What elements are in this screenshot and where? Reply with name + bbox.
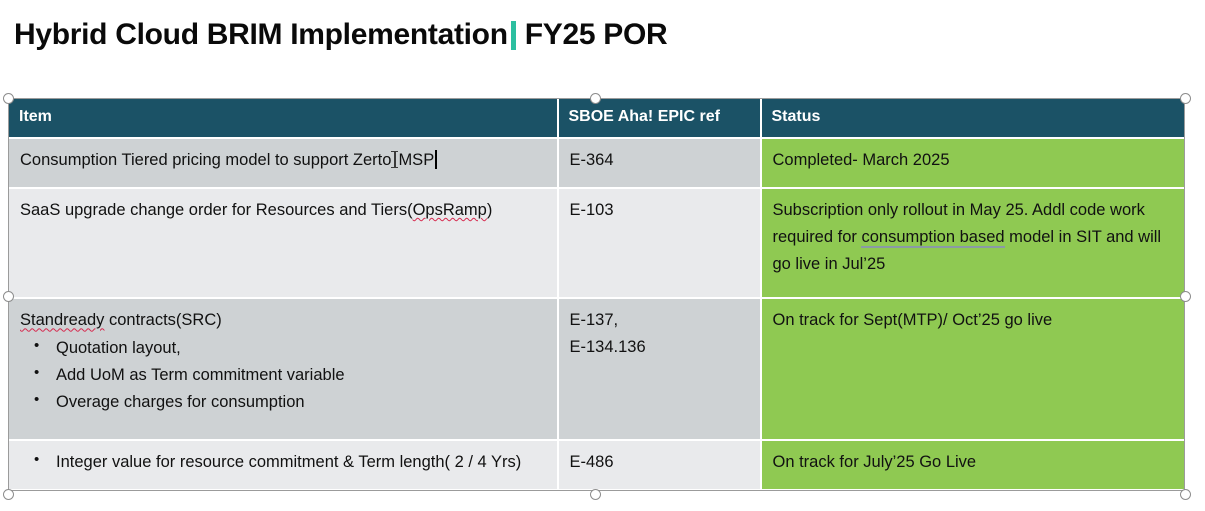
misspelled-word: Standready <box>20 311 104 329</box>
cell-epic-2[interactable]: E-103 <box>558 188 761 298</box>
item-text-1-tail: MSP <box>398 151 434 169</box>
column-header-epic[interactable]: SBOE Aha! EPIC ref <box>558 99 761 139</box>
resize-handle-bottom-right[interactable] <box>1180 489 1191 500</box>
table-row[interactable]: Consumption Tiered pricing model to supp… <box>9 138 1186 188</box>
resize-handle-top-right[interactable] <box>1180 93 1191 104</box>
item-text-1: Consumption Tiered pricing model to supp… <box>20 151 391 169</box>
por-table[interactable]: Item SBOE Aha! EPIC ref Status Consumpti… <box>8 98 1186 491</box>
resize-handle-middle-left[interactable] <box>3 291 14 302</box>
cell-status-4[interactable]: On track for July’25 Go Live <box>761 440 1186 490</box>
item-text-3-tail: contracts(SRC) <box>104 311 221 329</box>
por-table-container[interactable]: Item SBOE Aha! EPIC ref Status Consumpti… <box>8 98 1185 491</box>
misspelled-word: OpsRamp <box>413 201 487 219</box>
resize-handle-bottom-center[interactable] <box>590 489 601 500</box>
cell-status-2[interactable]: Subscription only rollout in May 25. Add… <box>761 188 1186 298</box>
resize-handle-bottom-left[interactable] <box>3 489 14 500</box>
column-header-status[interactable]: Status <box>761 99 1186 139</box>
cell-epic-3[interactable]: E-137, E-134.136 <box>558 298 761 439</box>
cell-item-4[interactable]: Integer value for resource commitment & … <box>9 440 558 490</box>
list-item: Add UoM as Term commitment variable <box>42 362 547 389</box>
item-text-2-tail: ) <box>487 201 493 219</box>
list-item: Overage charges for consumption <box>42 389 547 416</box>
title-accent-divider <box>511 21 516 50</box>
resize-handle-middle-right[interactable] <box>1180 291 1191 302</box>
item-heading-3: Standready contracts(SRC) <box>20 307 547 334</box>
page-title: Hybrid Cloud BRIM Implementation FY25 PO… <box>14 18 667 52</box>
cell-item-3[interactable]: Standready contracts(SRC) Quotation layo… <box>9 298 558 439</box>
grammar-flagged-phrase: consumption based <box>861 228 1004 248</box>
cell-epic-4[interactable]: E-486 <box>558 440 761 490</box>
cell-epic-1[interactable]: E-364 <box>558 138 761 188</box>
page-title-suffix: FY25 POR <box>525 18 668 52</box>
table-row[interactable]: SaaS upgrade change order for Resources … <box>9 188 1186 298</box>
epic-ref-line-1: E-137, <box>570 307 750 334</box>
table-row[interactable]: Standready contracts(SRC) Quotation layo… <box>9 298 1186 439</box>
resize-handle-top-left[interactable] <box>3 93 14 104</box>
list-item: Quotation layout, <box>42 335 547 362</box>
page-title-main: Hybrid Cloud BRIM Implementation <box>14 18 508 52</box>
text-cursor-icon <box>391 151 398 168</box>
table-row[interactable]: Integer value for resource commitment & … <box>9 440 1186 490</box>
column-header-item[interactable]: Item <box>9 99 558 139</box>
cell-status-1[interactable]: Completed- March 2025 <box>761 138 1186 188</box>
list-item: Integer value for resource commitment & … <box>42 449 547 476</box>
table-header-row: Item SBOE Aha! EPIC ref Status <box>9 99 1186 139</box>
cell-item-1[interactable]: Consumption Tiered pricing model to supp… <box>9 138 558 188</box>
item-bullet-list-4: Integer value for resource commitment & … <box>20 449 547 476</box>
epic-ref-line-2: E-134.136 <box>570 334 750 361</box>
item-text-2: SaaS upgrade change order for Resources … <box>20 201 413 219</box>
cell-item-2[interactable]: SaaS upgrade change order for Resources … <box>9 188 558 298</box>
resize-handle-top-center[interactable] <box>590 93 601 104</box>
cell-status-3[interactable]: On track for Sept(MTP)/ Oct’25 go live <box>761 298 1186 439</box>
text-caret <box>435 150 437 169</box>
item-bullet-list-3: Quotation layout, Add UoM as Term commit… <box>20 335 547 415</box>
